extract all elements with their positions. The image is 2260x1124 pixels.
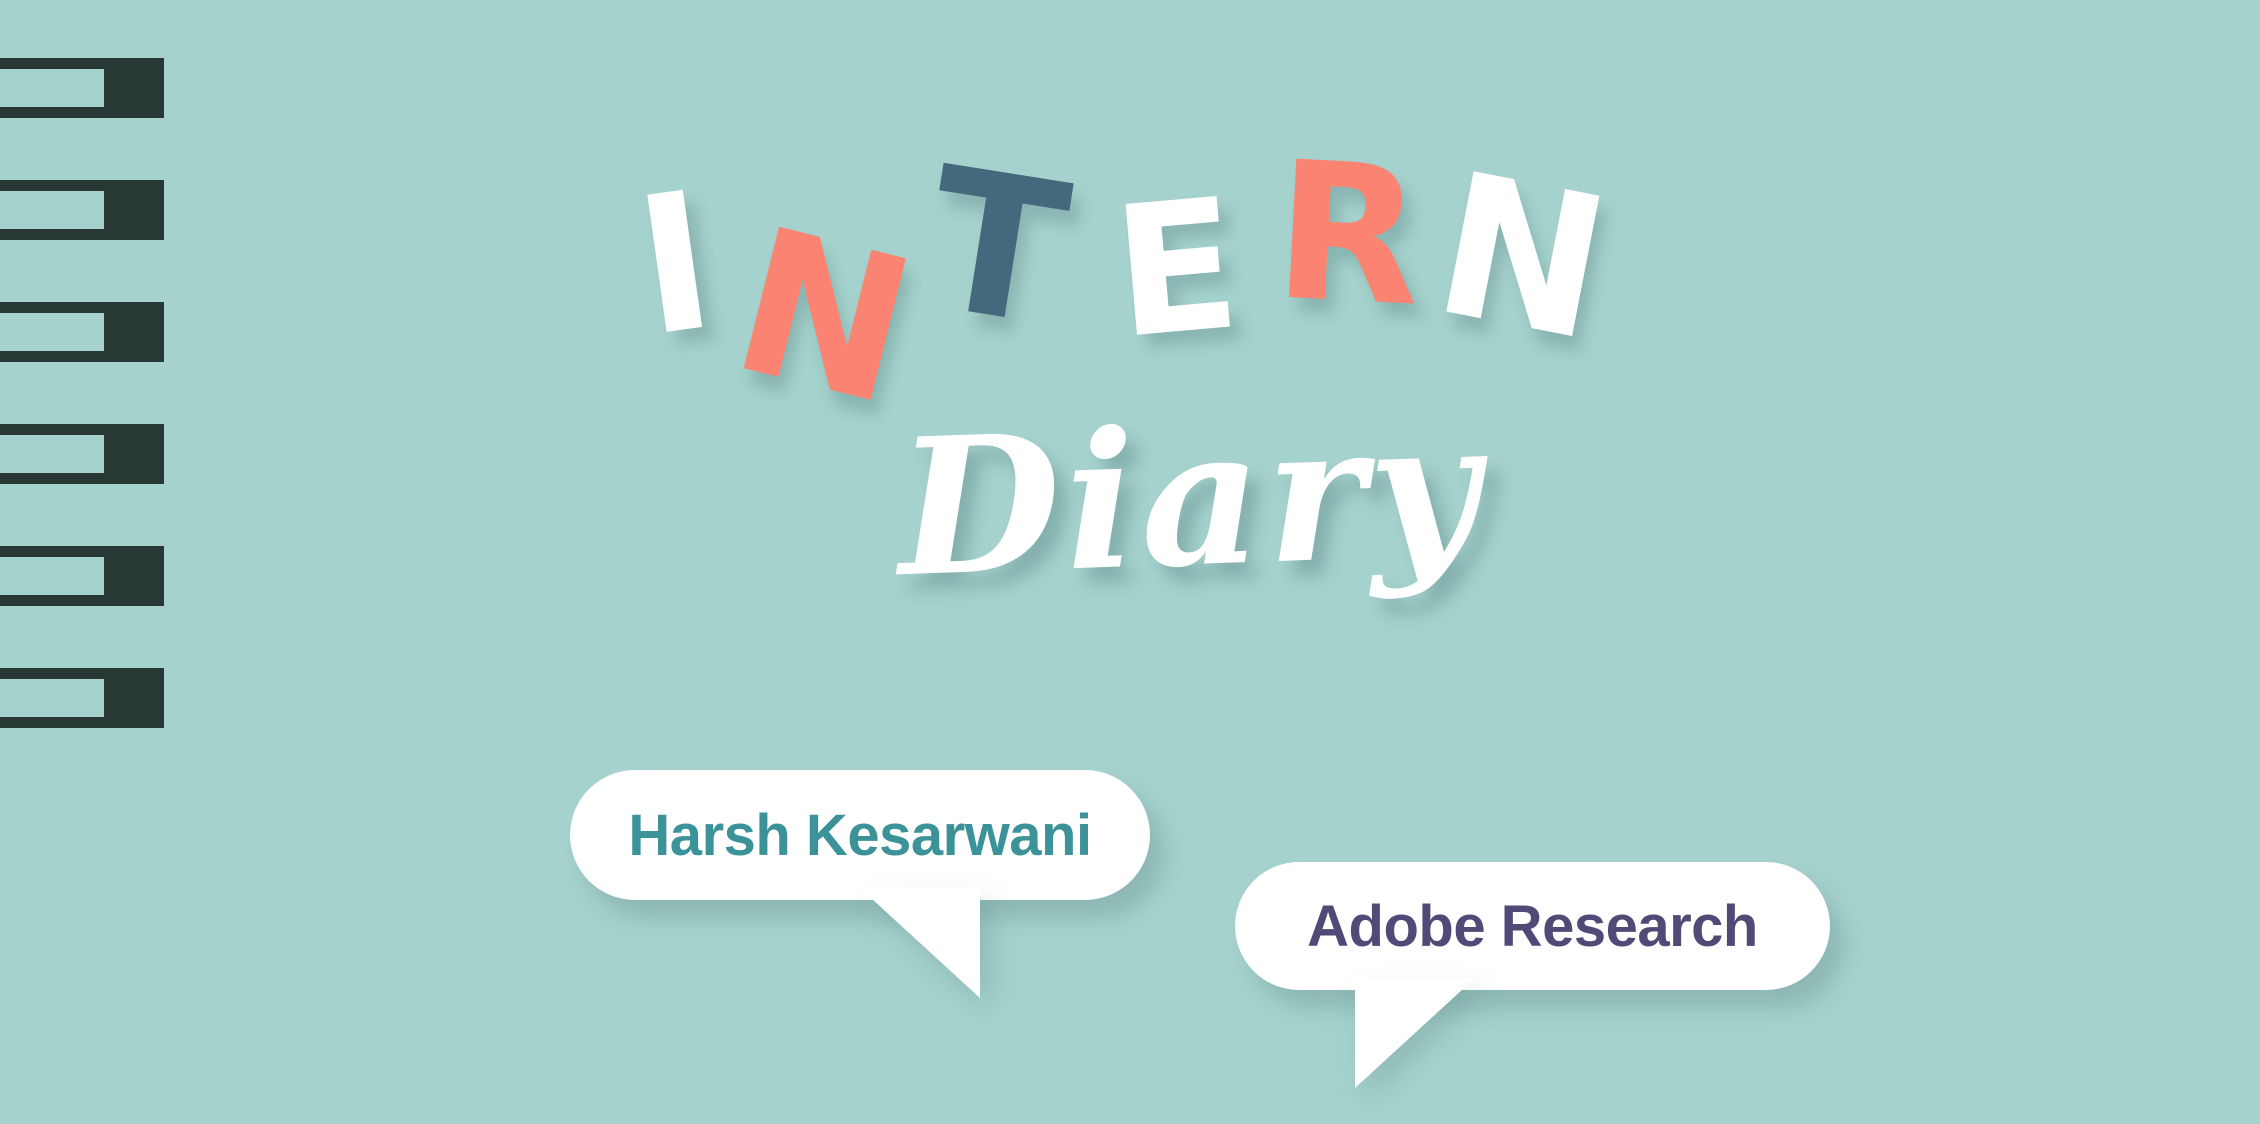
bubble-tail-organization bbox=[1355, 978, 1475, 1088]
bubble-label-organization: Adobe Research bbox=[1307, 893, 1758, 960]
binding-ring bbox=[0, 668, 164, 728]
binding-ring bbox=[0, 424, 164, 484]
speech-bubble-organization[interactable]: Adobe Research bbox=[1235, 862, 1830, 990]
spiral-notebook-binding bbox=[0, 0, 170, 1124]
title-card-canvas: INTERN Diary Harsh Kesarwani Adobe Resea… bbox=[0, 0, 2260, 1124]
bubble-body-organization[interactable]: Adobe Research bbox=[1235, 862, 1830, 990]
binding-ring bbox=[0, 58, 164, 118]
bubble-tail-name bbox=[860, 888, 980, 998]
binding-ring bbox=[0, 302, 164, 362]
binding-ring bbox=[0, 180, 164, 240]
binding-ring bbox=[0, 546, 164, 606]
title-diary-script: Diary bbox=[877, 394, 1503, 604]
speech-bubble-name[interactable]: Harsh Kesarwani bbox=[570, 770, 1150, 900]
bubble-label-name: Harsh Kesarwani bbox=[628, 802, 1091, 869]
bubble-body-name[interactable]: Harsh Kesarwani bbox=[570, 770, 1150, 900]
